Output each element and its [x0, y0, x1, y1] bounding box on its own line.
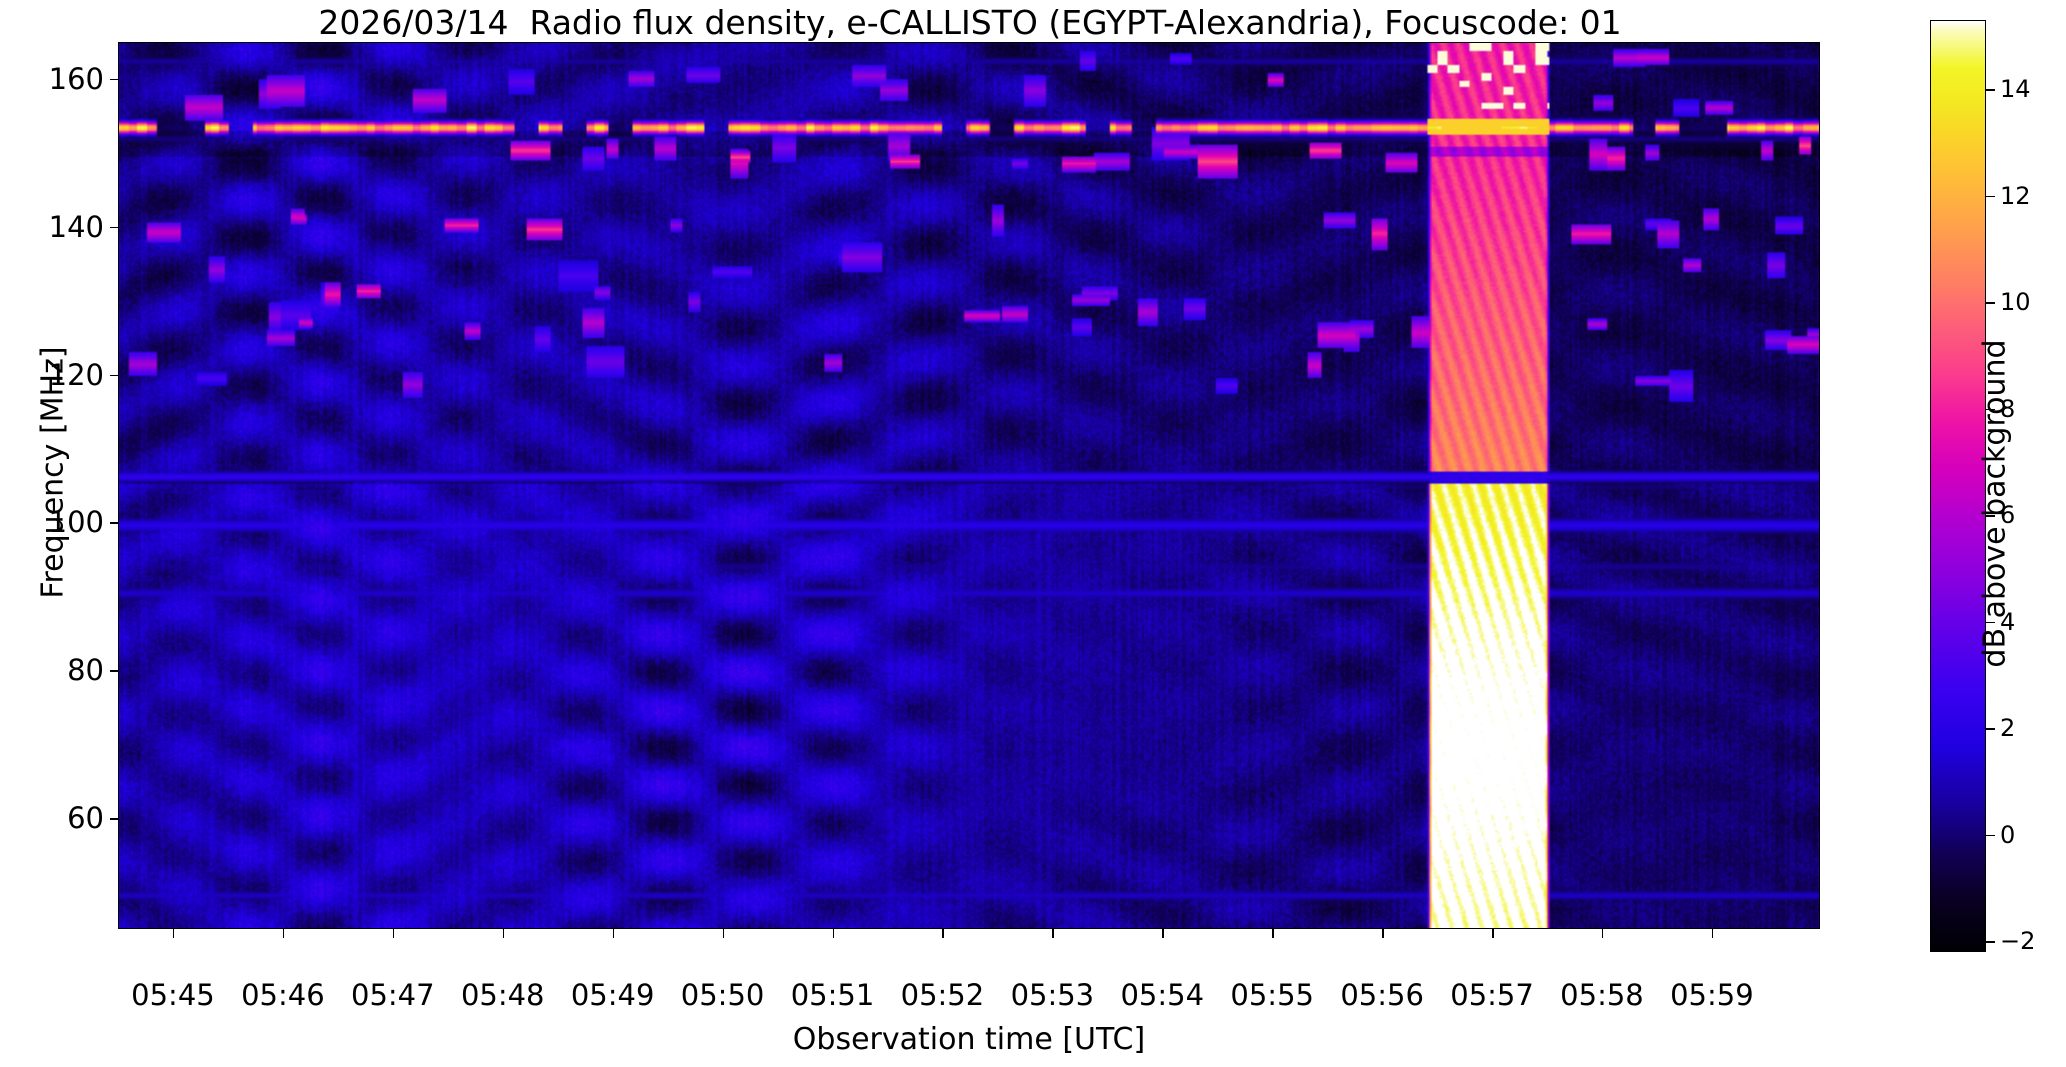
y-tick-label: 160 [4, 62, 104, 96]
y-tick-mark [110, 227, 118, 229]
spectrogram-image [119, 43, 1819, 928]
y-tick-label: 100 [4, 505, 104, 539]
colorbar-tick-label: −2 [2000, 927, 2035, 955]
y-tick-mark [110, 375, 118, 377]
spectrogram-axes[interactable] [118, 42, 1820, 929]
y-tick-mark [110, 818, 118, 820]
x-tick-mark [1272, 929, 1274, 938]
x-tick-mark [173, 929, 175, 938]
x-tick-mark [1162, 929, 1164, 938]
x-tick-mark [1492, 929, 1494, 938]
y-tick-mark [110, 522, 118, 524]
x-tick-mark [1712, 929, 1714, 938]
x-tick-mark [833, 929, 835, 938]
x-tick-mark [723, 929, 725, 938]
x-tick-mark [283, 929, 285, 938]
y-tick-label: 120 [4, 358, 104, 392]
x-tick-mark [942, 929, 944, 938]
figure-canvas: 2026/03/14 Radio flux density, e-CALLIST… [0, 0, 2066, 1067]
page-title: 2026/03/14 Radio flux density, e-CALLIST… [120, 4, 1820, 42]
colorbar-label: dB above background [1978, 154, 2013, 854]
x-axis-label: Observation time [UTC] [118, 1022, 1820, 1057]
x-tick-mark [503, 929, 505, 938]
y-tick-mark [110, 79, 118, 81]
y-axis-label: Frequency [MHz] [36, 73, 71, 873]
y-tick-label: 140 [4, 210, 104, 244]
x-tick-mark [613, 929, 615, 938]
colorbar-tick-mark [1986, 89, 1995, 91]
colorbar-tick-label: 14 [2000, 75, 2031, 103]
y-tick-mark [110, 670, 118, 672]
y-tick-label: 60 [4, 801, 104, 835]
colorbar-tick-mark [1986, 941, 1995, 943]
x-tick-mark [1602, 929, 1604, 938]
x-tick-label: 05:59 [1622, 978, 1802, 1012]
y-tick-label: 80 [4, 653, 104, 687]
x-tick-mark [1382, 929, 1384, 938]
x-tick-mark [393, 929, 395, 938]
x-tick-mark [1052, 929, 1054, 938]
